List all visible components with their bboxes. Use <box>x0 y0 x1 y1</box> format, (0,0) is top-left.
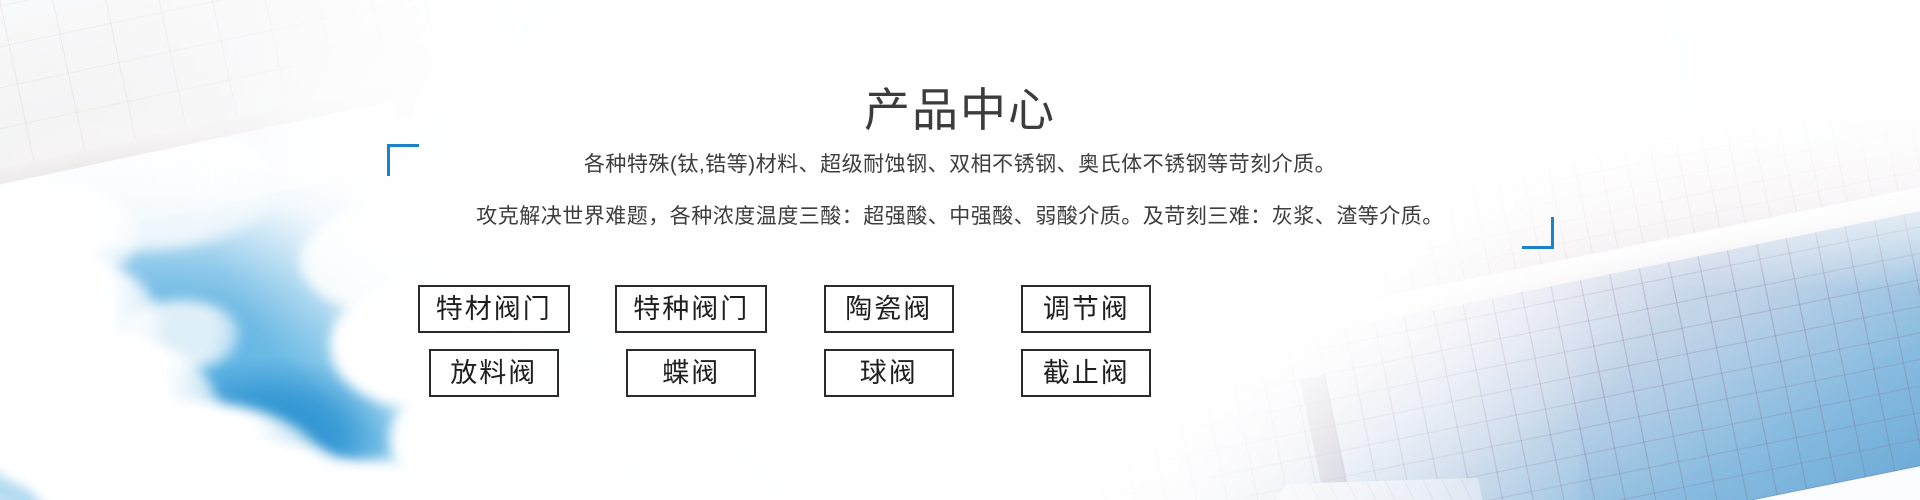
category-cell: 特种阀门 <box>593 285 791 333</box>
category-button-fangliao-fa[interactable]: 放料阀 <box>429 349 559 397</box>
category-row-2: 放料阀 蝶阀 球阀 截止阀 <box>395 349 1185 397</box>
description-line-2: 攻克解决世界难题，各种浓度温度三酸：超强酸、中强酸、弱酸介质。及苛刻三难：灰浆、… <box>0 202 1920 232</box>
product-center-banner: 产品中心 各种特殊(钛,锆等)材料、超级耐蚀钢、双相不锈钢、奥氏体不锈钢等苛刻介… <box>0 0 1920 500</box>
category-button-tiaojie-fa[interactable]: 调节阀 <box>1021 285 1151 333</box>
description-line-1: 各种特殊(钛,锆等)材料、超级耐蚀钢、双相不锈钢、奥氏体不锈钢等苛刻介质。 <box>0 150 1920 180</box>
bracket-arm-vertical <box>387 144 390 176</box>
category-cell: 蝶阀 <box>593 349 791 397</box>
corner-bracket-top-left-icon <box>387 144 419 176</box>
category-row-1: 特材阀门 特种阀门 陶瓷阀 调节阀 <box>395 285 1185 333</box>
page-title: 产品中心 <box>0 81 1920 139</box>
category-button-die-fa[interactable]: 蝶阀 <box>626 349 756 397</box>
category-button-jiezhi-fa[interactable]: 截止阀 <box>1021 349 1151 397</box>
category-button-tezhong-famen[interactable]: 特种阀门 <box>615 285 767 333</box>
bracket-arm-horizontal <box>387 144 419 147</box>
category-cell: 陶瓷阀 <box>790 285 988 333</box>
category-cell: 特材阀门 <box>395 285 593 333</box>
corner-bracket-bottom-right-icon <box>1522 217 1554 249</box>
banner-content: 产品中心 各种特殊(钛,锆等)材料、超级耐蚀钢、双相不锈钢、奥氏体不锈钢等苛刻介… <box>0 0 1920 500</box>
category-button-taoci-fa[interactable]: 陶瓷阀 <box>824 285 954 333</box>
category-cell: 调节阀 <box>988 285 1186 333</box>
category-cell: 放料阀 <box>395 349 593 397</box>
bracket-arm-vertical <box>1551 217 1554 249</box>
category-button-grid: 特材阀门 特种阀门 陶瓷阀 调节阀 放料阀 蝶阀 <box>395 285 1185 413</box>
bracket-arm-horizontal <box>1522 246 1554 249</box>
category-cell: 球阀 <box>790 349 988 397</box>
category-button-qiu-fa[interactable]: 球阀 <box>824 349 954 397</box>
category-button-tecai-famen[interactable]: 特材阀门 <box>418 285 570 333</box>
description-block: 各种特殊(钛,锆等)材料、超级耐蚀钢、双相不锈钢、奥氏体不锈钢等苛刻介质。 攻克… <box>0 150 1920 232</box>
category-cell: 截止阀 <box>988 349 1186 397</box>
